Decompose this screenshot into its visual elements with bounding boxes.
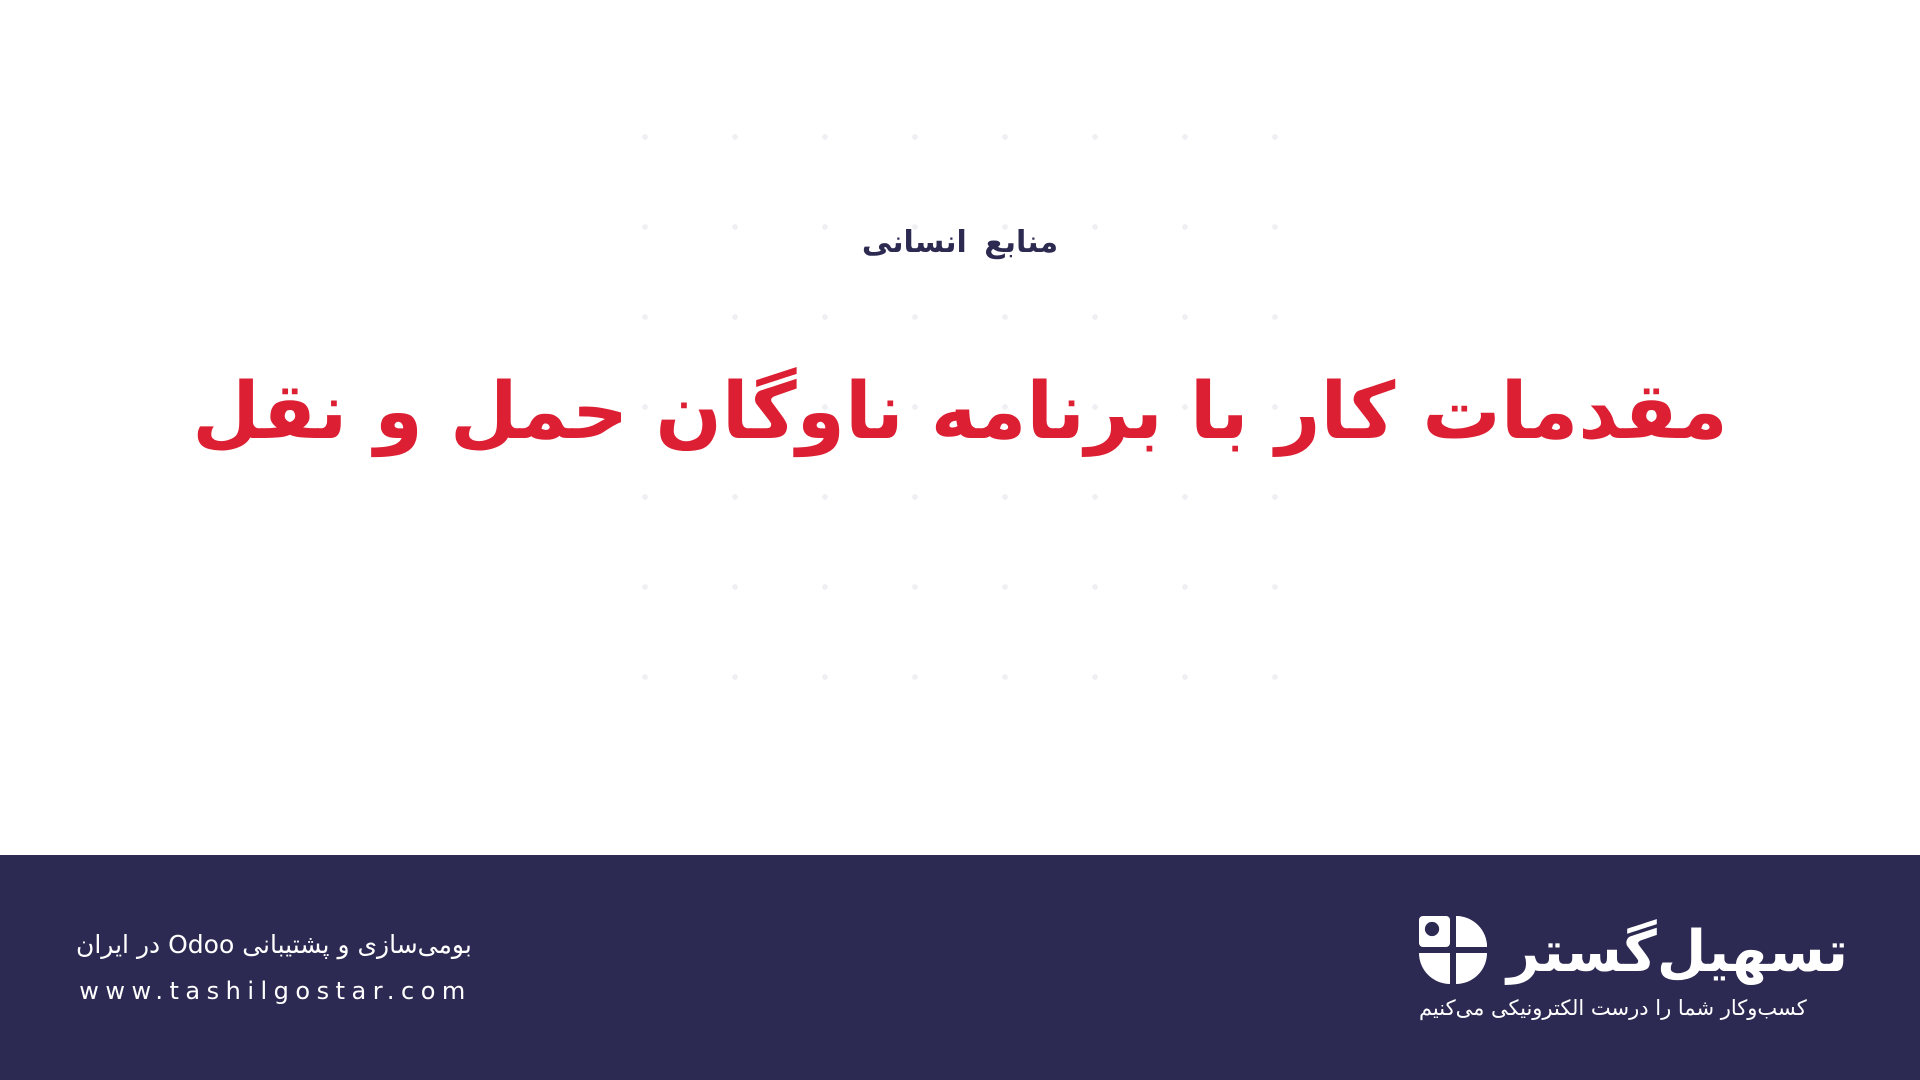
- hero-section: منابع انسانی مقدمات کار با برنامه ناوگان…: [0, 0, 1920, 855]
- slide-headline: مقدمات کار با برنامه ناوگان حمل و نقل: [192, 366, 1728, 458]
- brand-block[interactable]: تسهیل‌گستر کسب‌وکار شما را درست الکترونی…: [1419, 855, 1848, 1080]
- footer-website-link[interactable]: www.tashilgostar.com: [79, 979, 472, 1003]
- brand-name: تسهیل‌گستر: [1507, 924, 1848, 981]
- brand-lockup: تسهیل‌گستر: [1419, 916, 1848, 984]
- brand-slogan: کسب‌وکار شما را درست الکترونیکی می‌کنیم: [1419, 998, 1807, 1019]
- slide-root: منابع انسانی مقدمات کار با برنامه ناوگان…: [0, 0, 1920, 1080]
- footer-left-block: بومی‌سازی و پشتیبانی Odoo در ایران www.t…: [76, 855, 472, 1080]
- footer-bar: بومی‌سازی و پشتیبانی Odoo در ایران www.t…: [0, 855, 1920, 1080]
- slide-eyebrow: منابع انسانی: [862, 228, 1058, 258]
- footer-support-line: بومی‌سازی و پشتیبانی Odoo در ایران: [76, 932, 472, 957]
- four-petal-pinwheel-icon: [1419, 916, 1487, 984]
